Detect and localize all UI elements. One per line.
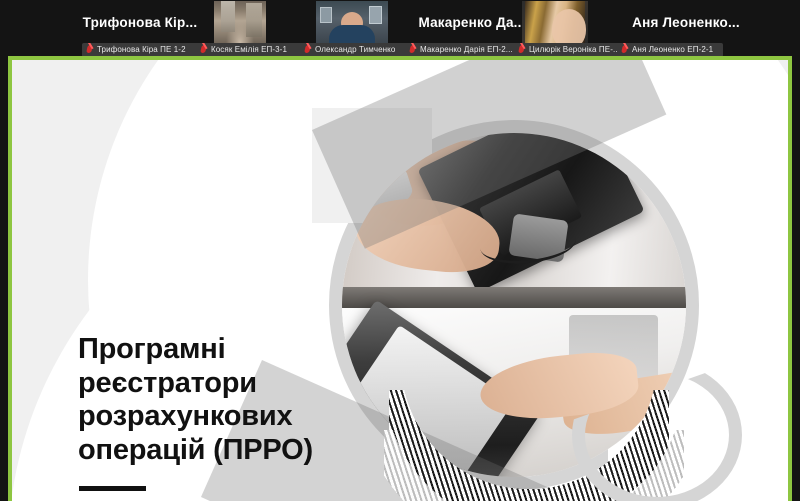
participant-display-name: Аня Леоненко... [632, 15, 740, 30]
mic-muted-icon [621, 45, 629, 55]
speaker-torso [329, 25, 375, 45]
name-badge-label: Аня Леоненко ЕП-2-1 [632, 43, 713, 57]
name-badge-1[interactable]: Трифонова Кіра ПЕ 1-2 [82, 43, 204, 57]
participant-name-badges: Трифонова Кіра ПЕ 1-2 Косяк Емілія ЕП-3-… [0, 43, 800, 57]
wall-picture-decor [369, 6, 382, 24]
shared-screen-slide[interactable]: Програмні реєстратори розрахункових опер… [8, 56, 792, 501]
wall-picture-decor [320, 7, 332, 23]
participant-video-2[interactable] [214, 1, 266, 45]
slide-title-line-1: Програмні [78, 333, 378, 367]
name-badge-label: Олександр Тимченко [315, 43, 395, 57]
name-badge-3[interactable]: Олександр Тимченко [300, 43, 412, 57]
participant-video-3[interactable] [316, 1, 388, 45]
zoom-meeting-window: Трифонова Кір... Макаренко Да... Аня Лео… [0, 0, 800, 501]
mic-muted-icon [86, 45, 94, 55]
title-underline-rule [79, 486, 146, 491]
participant-display-name: Макаренко Да... [418, 15, 525, 30]
mic-muted-icon [304, 45, 312, 55]
name-badge-2[interactable]: Косяк Емілія ЕП-3-1 [196, 43, 309, 57]
slide-title-line-3: розрахункових [78, 400, 378, 434]
name-badge-5[interactable]: Цилюрік Вероніка ПЕ-... [514, 43, 629, 57]
mic-muted-icon [200, 45, 208, 55]
participant-display-name: Трифонова Кір... [83, 15, 198, 30]
name-badge-label: Цилюрік Вероніка ПЕ-... [529, 43, 620, 57]
name-badge-label: Трифонова Кіра ПЕ 1-2 [97, 43, 186, 57]
name-badge-label: Макаренко Дарія ЕП-2... [420, 43, 513, 57]
name-badge-4[interactable]: Макаренко Дарія ЕП-2... [405, 43, 522, 57]
mic-muted-icon [518, 45, 526, 55]
slide-canvas: Програмні реєстратори розрахункових опер… [12, 60, 788, 501]
counter-edge [342, 287, 686, 308]
slide-title-line-4: операцій (ПРРО) [78, 434, 378, 468]
name-badge-6[interactable]: Аня Леоненко ЕП-2-1 [617, 43, 723, 57]
participant-tile-6[interactable]: Аня Леоненко... [596, 0, 776, 45]
participant-gallery-strip: Трифонова Кір... Макаренко Да... Аня Лео… [0, 0, 800, 56]
participant-video-5[interactable] [522, 1, 588, 45]
face-decor [552, 9, 586, 45]
participant-tile-1[interactable]: Трифонова Кір... [60, 0, 220, 45]
mic-muted-icon [409, 45, 417, 55]
slide-title: Програмні реєстратори розрахункових опер… [78, 333, 378, 468]
slide-title-line-2: реєстратори [78, 367, 378, 401]
name-badge-label: Косяк Емілія ЕП-3-1 [211, 43, 287, 57]
